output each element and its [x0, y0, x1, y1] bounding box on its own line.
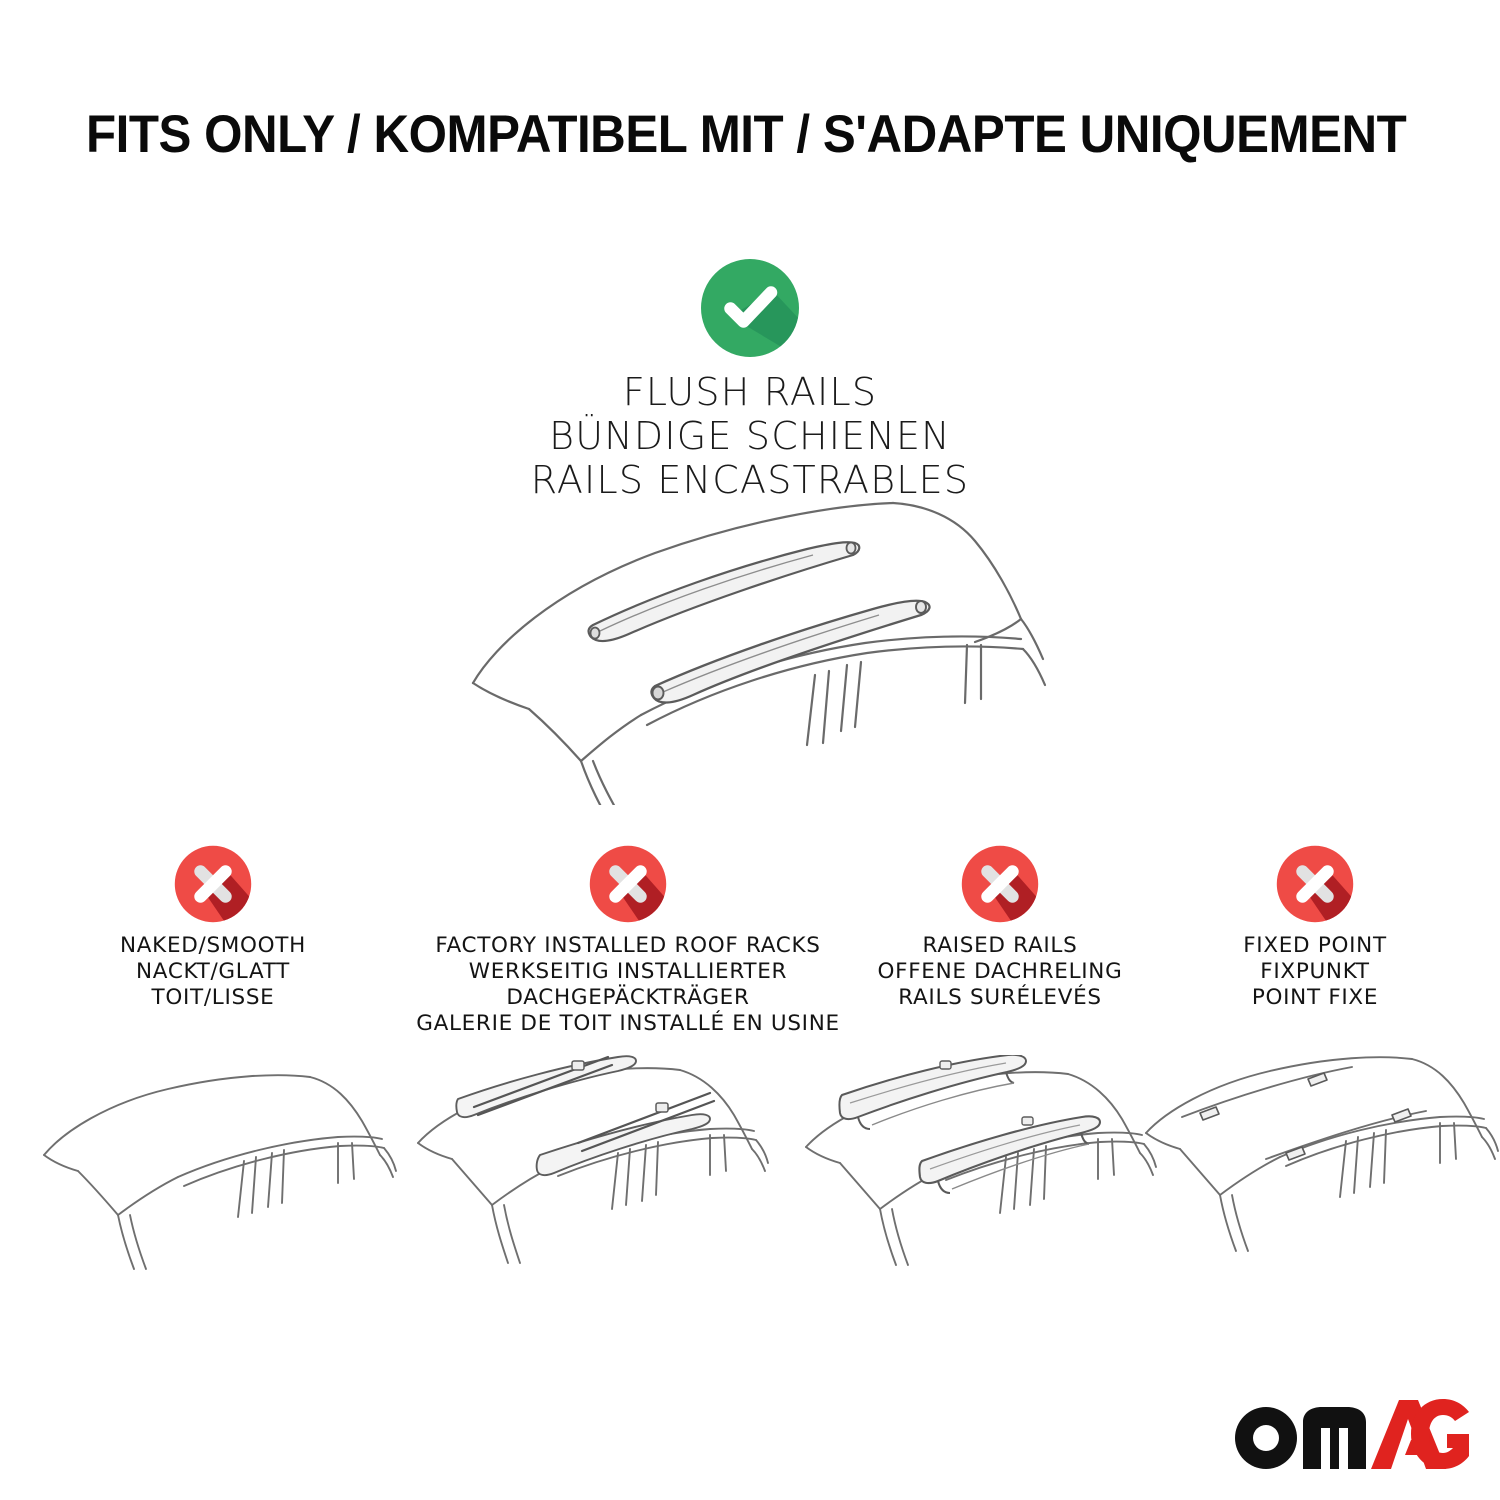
infographic-page: FITS ONLY / KOMPATIBEL MIT / S'ADAPTE UN…: [0, 0, 1500, 1500]
car-roof-fixed-point-illustration: [1140, 1055, 1500, 1295]
incompatible-label-raised-rails: RAISED RAILS OFFENE DACHRELING RAILS SUR…: [845, 933, 1155, 1011]
logo-letter-m: [1303, 1407, 1366, 1469]
roof-illustration-row: [0, 1055, 1500, 1305]
x-circle-icon: [1160, 845, 1470, 923]
car-roof-factory-racks-illustration: [412, 1055, 772, 1295]
incompatible-item-naked-smooth: NAKED/SMOOTH NACKT/GLATT TOIT/LISSE: [53, 845, 373, 1011]
incompatible-item-fixed-point: FIXED POINT FIXPUNKT POINT FIXE: [1160, 845, 1470, 1011]
label-line-de: OFFENE DACHRELING: [845, 959, 1155, 985]
compatible-section: FLUSH RAILS BÜNDIGE SCHIENEN RAILS ENCAS…: [0, 258, 1500, 502]
x-circle-icon: [845, 845, 1155, 923]
car-roof-raised-rails-illustration: [800, 1055, 1160, 1295]
page-title: FITS ONLY / KOMPATIBEL MIT / S'ADAPTE UN…: [86, 106, 1332, 164]
label-line-en: NAKED/SMOOTH: [53, 933, 373, 959]
label-line-de: FIXPUNKT: [1160, 959, 1470, 985]
label-line-fr: TOIT/LISSE: [53, 985, 373, 1011]
check-circle-icon: [0, 258, 1500, 358]
omac-logo: [1233, 1398, 1469, 1472]
x-circle-icon: [53, 845, 373, 923]
label-line-de-2: DACHGEPÄCKTRÄGER: [398, 985, 858, 1011]
label-line-fr: RAILS SURÉLEVÉS: [845, 985, 1155, 1011]
incompatible-label-fixed-point: FIXED POINT FIXPUNKT POINT FIXE: [1160, 933, 1470, 1011]
label-line-de-1: WERKSEITIG INSTALLIERTER: [398, 959, 858, 985]
incompatible-section: NAKED/SMOOTH NACKT/GLATT TOIT/LISSE: [0, 845, 1500, 1085]
incompatible-item-factory-racks: FACTORY INSTALLED ROOF RACKS WERKSEITIG …: [398, 845, 858, 1037]
incompatible-label-naked-smooth: NAKED/SMOOTH NACKT/GLATT TOIT/LISSE: [53, 933, 373, 1011]
compatible-labels: FLUSH RAILS BÜNDIGE SCHIENEN RAILS ENCAS…: [0, 370, 1500, 502]
label-line-fr: GALERIE DE TOIT INSTALLÉ EN USINE: [398, 1011, 858, 1037]
car-roof-naked-illustration: [38, 1055, 398, 1295]
car-roof-flush-rails-illustration: [455, 495, 1055, 805]
label-line-en: FIXED POINT: [1160, 933, 1470, 959]
label-line-en: FACTORY INSTALLED ROOF RACKS: [398, 933, 858, 959]
incompatible-item-raised-rails: RAISED RAILS OFFENE DACHRELING RAILS SUR…: [845, 845, 1155, 1011]
label-line-en: RAISED RAILS: [845, 933, 1155, 959]
label-line-fr: POINT FIXE: [1160, 985, 1470, 1011]
incompatible-label-factory-racks: FACTORY INSTALLED ROOF RACKS WERKSEITIG …: [398, 933, 858, 1037]
compatible-label-en: FLUSH RAILS: [0, 370, 1500, 414]
label-line-de: NACKT/GLATT: [53, 959, 373, 985]
x-circle-icon: [398, 845, 858, 923]
logo-letter-c: [1411, 1399, 1469, 1469]
compatible-label-de: BÜNDIGE SCHIENEN: [0, 414, 1500, 458]
logo-letter-o: [1235, 1407, 1297, 1469]
